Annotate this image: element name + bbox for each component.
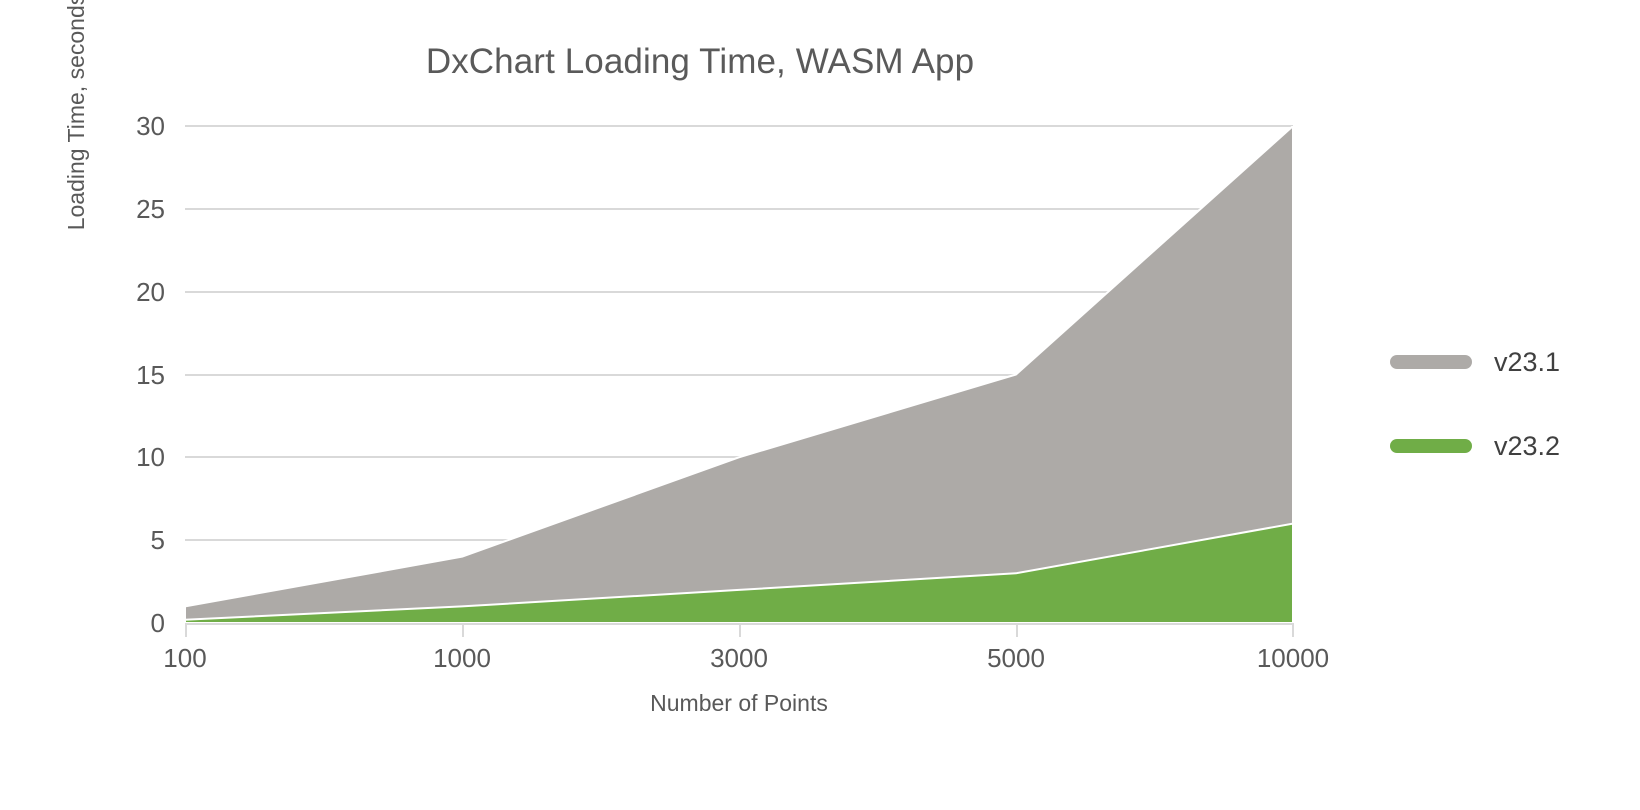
legend-item-label: v23.1 [1494, 349, 1560, 376]
y-axis-tick-label: 30 [95, 113, 165, 139]
chart-title: DxChart Loading Time, WASM App [0, 42, 1400, 82]
series-area-v23.1 [185, 126, 1293, 623]
y-axis-tick-label: 10 [95, 444, 165, 470]
y-axis-tick-label: 0 [95, 610, 165, 636]
x-axis-tick-label: 1000 [382, 645, 542, 671]
x-axis-tick-mark [185, 623, 187, 637]
legend-swatch-icon [1390, 355, 1472, 369]
legend-swatch-icon [1390, 439, 1472, 453]
legend-item-v23.1[interactable]: v23.1 [1390, 320, 1620, 404]
x-axis-title: Number of Points [185, 690, 1293, 717]
legend-item-label: v23.2 [1494, 433, 1560, 460]
y-axis-tick-label: 15 [95, 362, 165, 388]
y-axis-tick-label: 5 [95, 527, 165, 553]
y-axis-title: Loading Time, seconds [60, 0, 92, 282]
x-axis-tick-label: 100 [105, 645, 265, 671]
x-axis-tick-label: 3000 [659, 645, 819, 671]
chart-legend: v23.1v23.2 [1390, 320, 1620, 488]
y-axis-tick-label: 25 [95, 196, 165, 222]
x-axis-tick-marks [185, 623, 1294, 637]
x-axis-tick-mark [462, 623, 464, 637]
x-axis-tick-label: 10000 [1213, 645, 1373, 671]
y-axis-tick-label: 20 [95, 279, 165, 305]
x-axis-tick-labels: 10010003000500010000 [185, 645, 1294, 685]
x-axis-tick-mark [1016, 623, 1018, 637]
x-axis-tick-mark [1292, 623, 1294, 637]
x-axis-tick-label: 5000 [936, 645, 1096, 671]
plot-area [185, 126, 1293, 623]
y-axis-tick-labels: 302520151050 [95, 126, 165, 623]
series-area-paths [185, 126, 1293, 623]
y-axis-title-label: Loading Time, seconds [60, 0, 92, 282]
chart-container: DxChart Loading Time, WASM App Loading T… [0, 0, 1640, 810]
x-axis-tick-mark [739, 623, 741, 637]
legend-item-v23.2[interactable]: v23.2 [1390, 404, 1620, 488]
